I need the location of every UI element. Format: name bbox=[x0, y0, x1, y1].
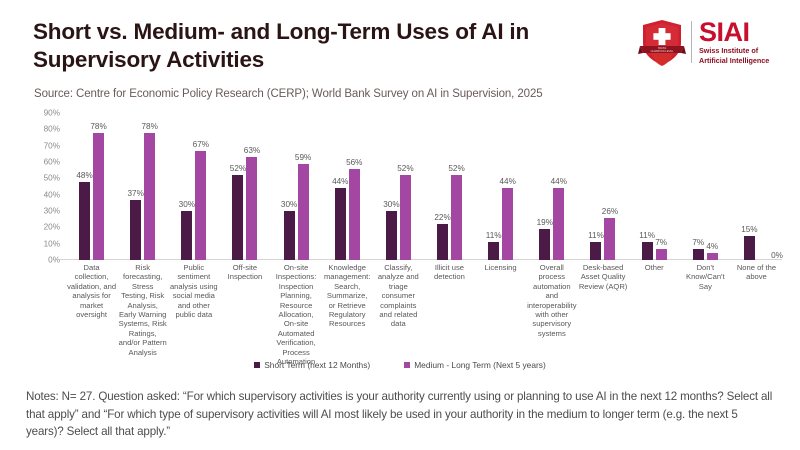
logo-subtitle-line2: Artificial Intelligence bbox=[699, 56, 769, 65]
bar-value-label: 48% bbox=[76, 171, 92, 180]
bar-value-label: 52% bbox=[230, 164, 246, 173]
bar-chart: 90%80%70%60%50%40%30%20%10%0% 48%78%37%7… bbox=[0, 105, 800, 380]
bar-value-label: 7% bbox=[655, 238, 667, 247]
bar-short-term[interactable]: 22% bbox=[437, 224, 448, 260]
slide-header: Short vs. Medium- and Long-Term Uses of … bbox=[0, 0, 800, 105]
bar-long-term[interactable]: 59% bbox=[298, 164, 309, 260]
bar-short-term[interactable]: 52% bbox=[232, 175, 243, 260]
siai-logo: SWISS CHAMPION LEVEL SIAI Swiss Institut… bbox=[637, 16, 782, 68]
source-line: Source: Centre for Economic Policy Resea… bbox=[34, 88, 543, 100]
notes-text: Notes: N= 27. Question asked: “For which… bbox=[26, 388, 774, 441]
category-labels: Data collection, validation, and analysi… bbox=[66, 263, 782, 366]
bar-long-term[interactable]: 52% bbox=[451, 175, 462, 260]
bar-group: 11%7% bbox=[629, 113, 680, 260]
bar-value-label: 59% bbox=[295, 153, 311, 162]
bar-value-label: 11% bbox=[588, 231, 604, 240]
category-label: Public sentiment analysis using social m… bbox=[168, 263, 219, 319]
bar-value-label: 30% bbox=[179, 200, 195, 209]
logo-wordmark: SIAI Swiss Institute of Artificial Intel… bbox=[699, 19, 769, 65]
bar-group: 48%78% bbox=[66, 113, 117, 260]
bar-value-label: 78% bbox=[90, 122, 106, 131]
bar-long-term[interactable]: 44% bbox=[553, 188, 564, 260]
bar-value-label: 37% bbox=[128, 189, 144, 198]
bar-long-term[interactable]: 78% bbox=[144, 133, 155, 260]
bar-short-term[interactable]: 30% bbox=[284, 211, 295, 260]
bar-short-term[interactable]: 30% bbox=[181, 211, 192, 260]
page-title: Short vs. Medium- and Long-Term Uses of … bbox=[33, 18, 633, 74]
bar-value-label: 19% bbox=[537, 218, 553, 227]
bar-short-term[interactable]: 7% bbox=[693, 249, 704, 260]
category-label: On-site Inspections: Inspection Planning… bbox=[271, 263, 322, 366]
legend-swatch-icon-short bbox=[254, 362, 260, 368]
bar-short-term[interactable]: 48% bbox=[79, 182, 90, 260]
bar-value-label: 30% bbox=[383, 200, 399, 209]
bar-group: 30%59% bbox=[271, 113, 322, 260]
bar-short-term[interactable]: 11% bbox=[590, 242, 601, 260]
bar-short-term[interactable]: 11% bbox=[488, 242, 499, 260]
bar-long-term[interactable]: 26% bbox=[604, 218, 615, 260]
bar-groups: 48%78%37%78%30%67%52%63%30%59%44%56%30%5… bbox=[66, 113, 782, 260]
y-axis-tick-label: 10% bbox=[44, 239, 60, 248]
bar-value-label: 78% bbox=[142, 122, 158, 131]
legend-label-short: Short Term (next 12 Months) bbox=[264, 360, 370, 370]
bar-short-term[interactable]: 37% bbox=[130, 200, 141, 260]
bar-short-term[interactable]: 30% bbox=[386, 211, 397, 260]
y-axis-tick-label: 50% bbox=[44, 174, 60, 183]
y-axis-tick-label: 20% bbox=[44, 223, 60, 232]
bar-group: 11%26% bbox=[577, 113, 628, 260]
y-axis-tick-label: 60% bbox=[44, 158, 60, 167]
category-label: Classify, analyze and triage consumer co… bbox=[373, 263, 424, 329]
bar-group: 37%78% bbox=[117, 113, 168, 260]
category-label: Off-site Inspection bbox=[219, 263, 270, 282]
y-axis-tick-label: 80% bbox=[44, 125, 60, 134]
bar-short-term[interactable]: 15% bbox=[744, 236, 755, 261]
bar-group: 30%52% bbox=[373, 113, 424, 260]
svg-text:CHAMPION LEVEL: CHAMPION LEVEL bbox=[651, 49, 674, 53]
bar-value-label: 0% bbox=[771, 251, 783, 260]
bar-value-label: 52% bbox=[397, 164, 413, 173]
bar-short-term[interactable]: 44% bbox=[335, 188, 346, 260]
bar-short-term[interactable]: 11% bbox=[642, 242, 653, 260]
y-axis-tick-label: 70% bbox=[44, 141, 60, 150]
bar-group: 22%52% bbox=[424, 113, 475, 260]
plot-area: 90%80%70%60%50%40%30%20%10%0% 48%78%37%7… bbox=[66, 113, 782, 260]
bar-value-label: 44% bbox=[332, 177, 348, 186]
bar-long-term[interactable]: 7% bbox=[656, 249, 667, 260]
bar-long-term[interactable]: 78% bbox=[93, 133, 104, 260]
bar-value-label: 30% bbox=[281, 200, 297, 209]
bar-value-label: 4% bbox=[706, 242, 718, 251]
bar-group: 44%56% bbox=[322, 113, 373, 260]
bar-value-label: 63% bbox=[244, 146, 260, 155]
bar-long-term[interactable]: 67% bbox=[195, 151, 206, 260]
bar-value-label: 11% bbox=[639, 231, 655, 240]
bar-group: 19%44% bbox=[526, 113, 577, 260]
swiss-shield-icon: SWISS CHAMPION LEVEL bbox=[637, 17, 687, 67]
bar-group: 30%67% bbox=[168, 113, 219, 260]
bar-long-term[interactable]: 56% bbox=[349, 169, 360, 260]
category-label: Data collection, validation, and analysi… bbox=[66, 263, 117, 319]
legend-item-short-term[interactable]: Short Term (next 12 Months) bbox=[254, 360, 370, 370]
y-axis-tick-label: 30% bbox=[44, 207, 60, 216]
bar-long-term[interactable]: 44% bbox=[502, 188, 513, 260]
bar-long-term[interactable]: 52% bbox=[400, 175, 411, 260]
bar-group: 11%44% bbox=[475, 113, 526, 260]
bar-value-label: 52% bbox=[448, 164, 464, 173]
bar-value-label: 7% bbox=[692, 238, 704, 247]
bar-group: 15%0% bbox=[731, 113, 782, 260]
logo-name: SIAI bbox=[699, 19, 769, 45]
logo-divider bbox=[691, 21, 692, 63]
bar-value-label: 56% bbox=[346, 158, 362, 167]
bar-group: 7%4% bbox=[680, 113, 731, 260]
category-label: Other bbox=[629, 263, 680, 272]
category-label: Desk-based Asset Quality Review (AQR) bbox=[578, 263, 629, 291]
bar-value-label: 15% bbox=[741, 225, 757, 234]
y-axis-tick-label: 90% bbox=[44, 109, 60, 118]
category-label: Don't Know/Can't Say bbox=[680, 263, 731, 291]
y-axis-tick-label: 0% bbox=[48, 256, 60, 265]
category-label: Risk forecasting, Stress Testing, Risk A… bbox=[117, 263, 168, 357]
category-label: None of the above bbox=[731, 263, 782, 282]
legend-swatch-icon-long bbox=[404, 362, 410, 368]
bar-long-term[interactable]: 63% bbox=[246, 157, 257, 260]
category-label: Licensing bbox=[475, 263, 526, 272]
chart-legend: Short Term (next 12 Months) Medium - Lon… bbox=[0, 360, 800, 370]
bar-value-label: 44% bbox=[499, 177, 515, 186]
legend-label-long: Medium - Long Term (Next 5 years) bbox=[414, 360, 546, 370]
category-label: Knowledge management: Search, Summarize,… bbox=[322, 263, 373, 329]
category-label: Illicit use detection bbox=[424, 263, 475, 282]
logo-subtitle-line1: Swiss Institute of bbox=[699, 46, 769, 55]
bar-value-label: 67% bbox=[193, 140, 209, 149]
bar-value-label: 44% bbox=[551, 177, 567, 186]
y-axis-tick-label: 40% bbox=[44, 190, 60, 199]
bar-value-label: 26% bbox=[602, 207, 618, 216]
bar-group: 52%63% bbox=[219, 113, 270, 260]
legend-item-long-term[interactable]: Medium - Long Term (Next 5 years) bbox=[404, 360, 546, 370]
bar-value-label: 22% bbox=[434, 213, 450, 222]
bar-short-term[interactable]: 19% bbox=[539, 229, 550, 260]
category-label: Overall process automation and interoper… bbox=[526, 263, 577, 338]
bar-value-label: 11% bbox=[486, 231, 502, 240]
bar-long-term[interactable]: 4% bbox=[707, 253, 718, 260]
